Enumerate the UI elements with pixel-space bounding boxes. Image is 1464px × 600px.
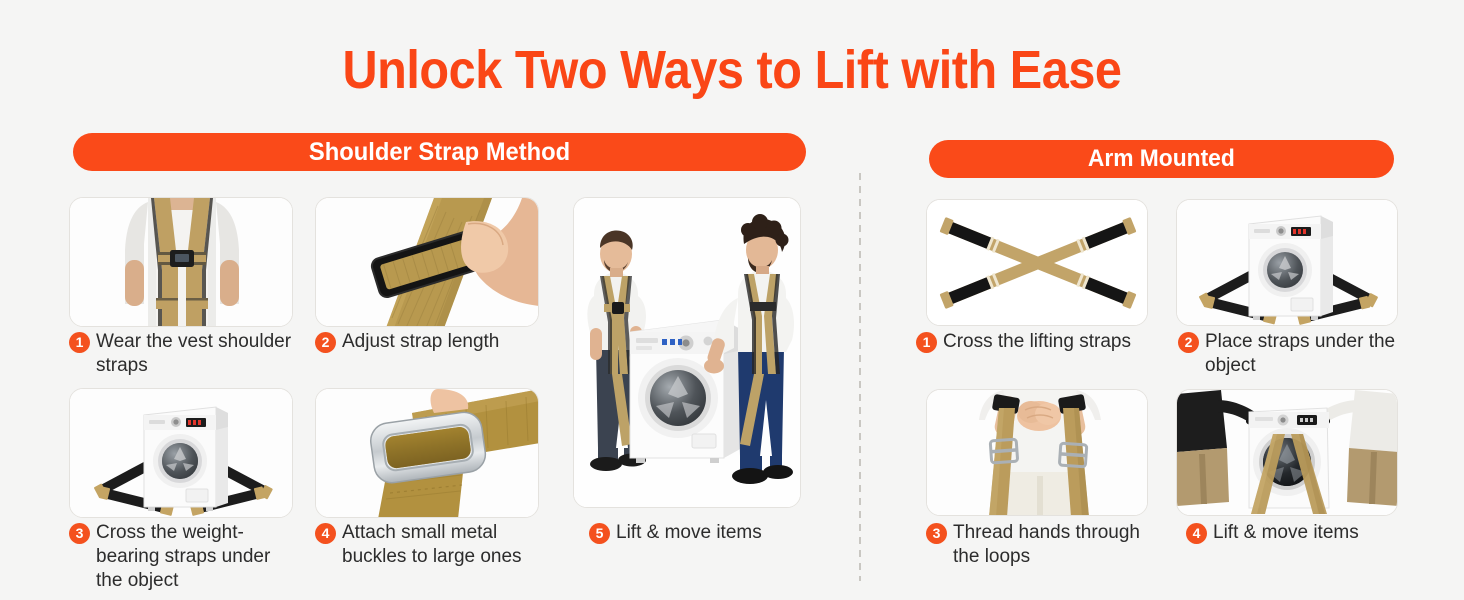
step-image-card-wear-vest [69,197,293,327]
page-title: Unlock Two Ways to Lift with Ease [73,38,1391,102]
step-caption-5-left: 5 Lift & move items [589,521,809,545]
step-caption-text: Attach small metal buckles to large ones [342,521,551,569]
step-caption-text: Lift & move items [1213,521,1359,545]
step-caption-text: Cross the lifting straps [943,330,1131,354]
step-caption-1-left: 1 Wear the vest shoulder straps [69,330,297,378]
section-banner-shoulder-strap-method: Shoulder Strap Method [73,133,806,171]
step-number-badge: 3 [926,523,947,544]
hand-adjusting-buckle-image [316,198,538,326]
step-number-badge: 4 [1186,523,1207,544]
infographic-page: Unlock Two Ways to Lift with Ease Should… [0,0,1464,600]
step-caption-4-left: 4 Attach small metal buckles to large on… [315,521,551,569]
metal-buckle-on-strap-image [316,389,538,517]
step-caption-1-right: 1 Cross the lifting straps [916,330,1154,354]
step-caption-4-right: 4 Lift & move items [1186,521,1408,545]
step-image-card-place-straps-under [1176,199,1398,326]
step-caption-text: Wear the vest shoulder straps [96,330,297,378]
step-image-card-cross-straps [69,388,293,518]
step-image-card-metal-buckle [315,388,539,518]
two-movers-lifting-washer-image [574,198,800,507]
step-caption-text: Place straps under the object [1205,330,1406,378]
two-people-lifting-washer-arm-straps-image [1177,390,1397,515]
step-caption-3-left: 3 Cross the weight-bearing straps under … [69,521,301,593]
step-number-badge: 2 [315,332,336,353]
section-banner-label: Shoulder Strap Method [309,138,570,167]
step-number-badge: 1 [916,332,937,353]
crossed-straps-x-image [927,200,1147,325]
section-banner-label: Arm Mounted [1088,145,1235,173]
step-image-card-lift-and-move-right [1176,389,1398,516]
person-wearing-harness-vest-image [70,198,292,326]
section-divider [859,173,861,581]
washer-crossed-straps-image [70,389,292,517]
step-caption-3-right: 3 Thread hands through the loops [926,521,1154,569]
washer-straps-underneath-image [1177,200,1397,325]
step-number-badge: 5 [589,523,610,544]
step-caption-text: Lift & move items [616,521,762,545]
step-image-card-thread-hands [926,389,1148,516]
step-image-card-adjust-strap [315,197,539,327]
step-caption-2-left: 2 Adjust strap length [315,330,547,354]
step-number-badge: 1 [69,332,90,353]
section-banner-arm-mounted: Arm Mounted [929,140,1394,178]
step-image-card-lift-and-move-left [573,197,801,508]
step-caption-2-right: 2 Place straps under the object [1178,330,1406,378]
step-number-badge: 4 [315,523,336,544]
step-caption-text: Thread hands through the loops [953,521,1154,569]
step-caption-text: Adjust strap length [342,330,499,354]
step-caption-text: Cross the weight-bearing straps under th… [96,521,301,593]
step-number-badge: 2 [1178,332,1199,353]
step-number-badge: 3 [69,523,90,544]
hands-through-loops-image [927,390,1147,515]
step-image-card-cross-lifting-straps [926,199,1148,326]
